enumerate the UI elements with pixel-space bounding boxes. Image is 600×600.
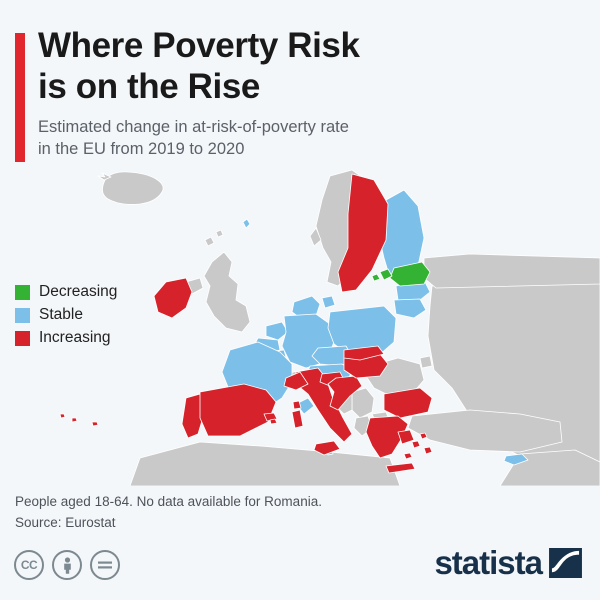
- page-title: Where Poverty Risk is on the Rise: [38, 26, 458, 107]
- footnote-note: People aged 18-64. No data available for…: [15, 492, 485, 513]
- page-subtitle-line-1: Estimated change in at-risk-of-poverty r…: [38, 116, 468, 138]
- legend-label-stable: Stable: [39, 307, 83, 323]
- legend-item-stable: Stable: [15, 304, 117, 326]
- statista-logo: statista: [434, 546, 582, 579]
- cc-icon: CC: [14, 550, 44, 580]
- page-subtitle-line-2: in the EU from 2019 to 2020: [38, 138, 468, 160]
- page-title-line-2: is on the Rise: [38, 67, 458, 108]
- creative-commons-license: CC: [14, 550, 120, 580]
- title-accent-bar: [15, 33, 25, 162]
- cc-by-attribution-icon: [52, 550, 82, 580]
- page-title-line-1: Where Poverty Risk: [38, 26, 458, 67]
- legend-swatch-increasing: [15, 331, 30, 346]
- legend-swatch-stable: [15, 308, 30, 323]
- legend-label-increasing: Increasing: [39, 330, 111, 346]
- legend-item-decreasing: Decreasing: [15, 281, 117, 303]
- statista-swoosh-mark: [549, 548, 582, 578]
- footnote-source: Source: Eurostat: [15, 513, 485, 534]
- map-legend: Decreasing Stable Increasing: [15, 281, 117, 350]
- page-subtitle: Estimated change in at-risk-of-poverty r…: [38, 116, 468, 161]
- footnote: People aged 18-64. No data available for…: [15, 492, 485, 534]
- legend-item-increasing: Increasing: [15, 327, 117, 349]
- legend-label-decreasing: Decreasing: [39, 284, 117, 300]
- statista-wordmark: statista: [434, 546, 542, 579]
- legend-swatch-decreasing: [15, 285, 30, 300]
- cc-nd-no-derivatives-icon: [90, 550, 120, 580]
